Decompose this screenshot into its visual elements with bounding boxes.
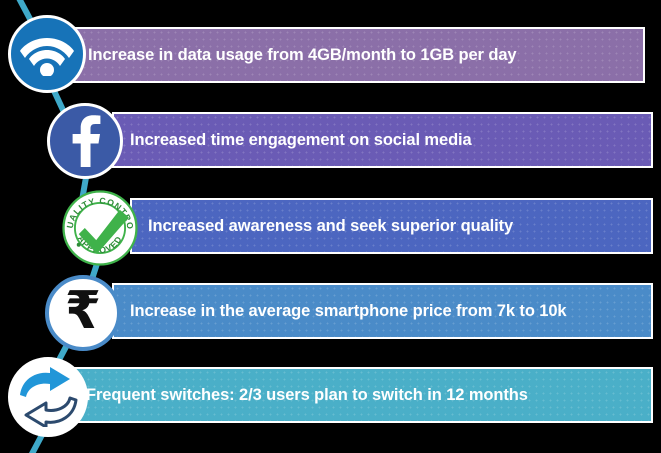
- bar-label-row-1: Increase in data usage from 4GB/month to…: [88, 47, 517, 64]
- bar-label-row-2: Increased time engagement on social medi…: [130, 132, 472, 149]
- bar-row-5: Frequent switches: 2/3 users plan to swi…: [62, 367, 653, 423]
- bar-label-row-4: Increase in the average smartphone price…: [130, 303, 567, 320]
- switch-arrows-glyph: [16, 367, 80, 427]
- bar-label-row-5: Frequent switches: 2/3 users plan to swi…: [86, 387, 528, 404]
- infographic-canvas: Increase in data usage from 4GB/month to…: [0, 0, 661, 453]
- bar-row-4: Increase in the average smartphone price…: [112, 283, 653, 339]
- rupee-icon[interactable]: ₹: [45, 275, 121, 351]
- facebook-icon[interactable]: [47, 103, 123, 179]
- bar-row-3: Increased awareness and seek superior qu…: [130, 198, 653, 254]
- wifi-glyph: [20, 32, 74, 76]
- bar-row-2: Increased time engagement on social medi…: [112, 112, 653, 168]
- quality-stamp-glyph: QUALITY CONTROL APPROVED: [62, 190, 138, 266]
- switch-arrows-icon[interactable]: [8, 357, 88, 437]
- bar-row-1: Increase in data usage from 4GB/month to…: [72, 27, 645, 83]
- bar-label-row-3: Increased awareness and seek superior qu…: [148, 218, 513, 235]
- quality-control-approved-icon[interactable]: QUALITY CONTROL APPROVED: [62, 190, 138, 266]
- rupee-glyph: ₹: [65, 285, 101, 337]
- facebook-f-glyph: [68, 115, 102, 167]
- wifi-icon[interactable]: [8, 15, 86, 93]
